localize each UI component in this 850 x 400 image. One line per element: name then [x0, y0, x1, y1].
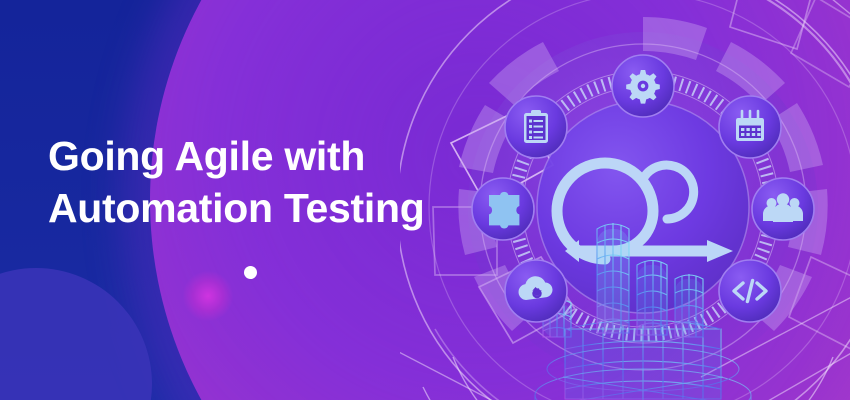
gear-icon	[626, 70, 660, 104]
hero-banner: Going Agile with Automation Testing	[0, 0, 850, 400]
icon-bubble-cloud[interactable]	[505, 260, 567, 322]
decorative-white-dot	[244, 266, 257, 279]
icon-bubble-gear[interactable]	[612, 55, 674, 117]
page-title: Going Agile with Automation Testing	[48, 130, 518, 234]
icon-bubble-code[interactable]	[719, 260, 781, 322]
clipboard-icon	[524, 110, 548, 143]
decorative-glow-dot	[183, 271, 233, 321]
icon-bubble-calendar[interactable]	[719, 96, 781, 158]
icon-bubble-people[interactable]	[752, 178, 814, 240]
title-line-1: Going Agile with	[48, 130, 518, 182]
title-line-2: Automation Testing	[48, 182, 518, 234]
